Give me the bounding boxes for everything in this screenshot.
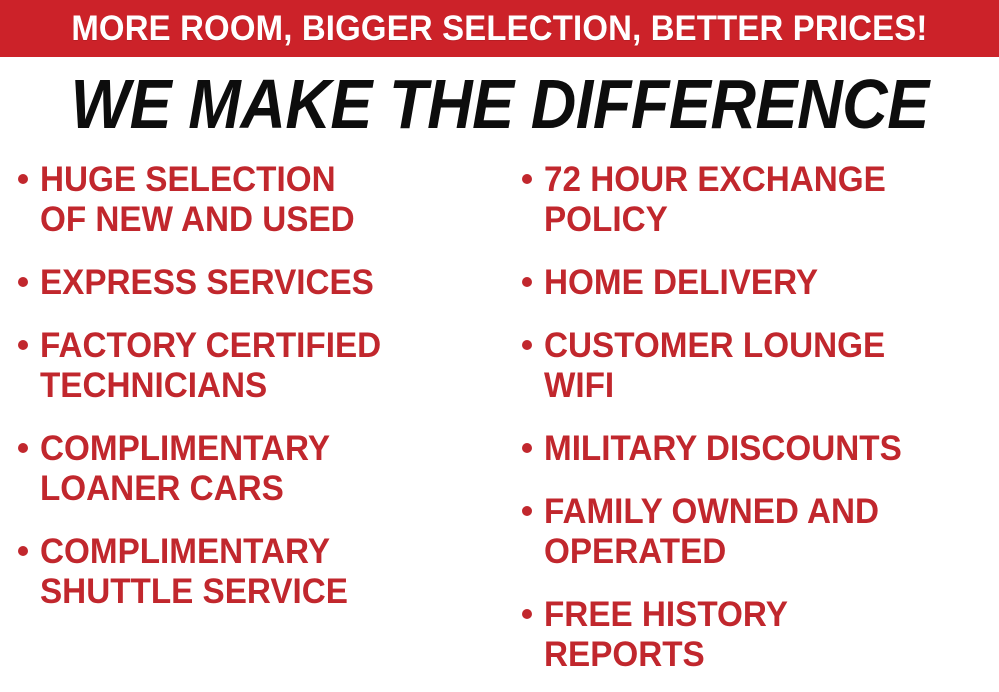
bullet-dot-icon xyxy=(18,340,28,350)
bullet-text: EXPRESS SERVICES xyxy=(40,263,482,303)
bullet-line: OPERATED xyxy=(544,532,976,572)
benefits-columns: HUGE SELECTION OF NEW AND USED EXPRESS S… xyxy=(0,160,999,680)
bullet-dot-icon xyxy=(522,609,532,619)
bullet-text: CUSTOMER LOUNGE WIFI xyxy=(544,326,976,406)
bullet-line: 72 HOUR EXCHANGE xyxy=(544,160,976,200)
bullet-text: HUGE SELECTION OF NEW AND USED xyxy=(40,160,482,240)
bullet-line: HUGE SELECTION xyxy=(40,160,482,200)
bullet-line: COMPLIMENTARY xyxy=(40,532,482,572)
list-item: HUGE SELECTION OF NEW AND USED xyxy=(18,160,505,240)
bullet-dot-icon xyxy=(18,174,28,184)
benefits-column-left: HUGE SELECTION OF NEW AND USED EXPRESS S… xyxy=(0,160,505,635)
list-item: FAMILY OWNED AND OPERATED xyxy=(522,492,999,572)
bullet-dot-icon xyxy=(522,340,532,350)
list-item: 72 HOUR EXCHANGE POLICY xyxy=(522,160,999,240)
bullet-dot-icon xyxy=(522,277,532,287)
bullet-text: FAMILY OWNED AND OPERATED xyxy=(544,492,976,572)
bullet-line: LOANER CARS xyxy=(40,469,482,509)
bullet-line: EXPRESS SERVICES xyxy=(40,263,482,303)
list-item: EXPRESS SERVICES xyxy=(18,263,505,303)
headline-container: WE MAKE THE DIFFERENCE xyxy=(0,68,999,140)
bullet-dot-icon xyxy=(18,277,28,287)
top-banner: MORE ROOM, BIGGER SELECTION, BETTER PRIC… xyxy=(0,0,999,57)
bullet-line: HOME DELIVERY xyxy=(544,263,976,303)
bullet-text: FACTORY CERTIFIED TECHNICIANS xyxy=(40,326,482,406)
benefits-column-right: 72 HOUR EXCHANGE POLICY HOME DELIVERY CU… xyxy=(505,160,999,692)
bullet-text: COMPLIMENTARY SHUTTLE SERVICE xyxy=(40,532,482,612)
list-item: CUSTOMER LOUNGE WIFI xyxy=(522,326,999,406)
bullet-dot-icon xyxy=(522,506,532,516)
list-item: COMPLIMENTARY LOANER CARS xyxy=(18,429,505,509)
page-title: WE MAKE THE DIFFERENCE xyxy=(70,69,928,139)
bullet-dot-icon xyxy=(522,443,532,453)
bullet-line: POLICY xyxy=(544,200,976,240)
banner-headline-text: MORE ROOM, BIGGER SELECTION, BETTER PRIC… xyxy=(71,11,927,46)
promo-poster: MORE ROOM, BIGGER SELECTION, BETTER PRIC… xyxy=(0,0,999,692)
list-item: MILITARY DISCOUNTS xyxy=(522,429,999,469)
bullet-line: MILITARY DISCOUNTS xyxy=(544,429,976,469)
list-item: HOME DELIVERY xyxy=(522,263,999,303)
bullet-text: HOME DELIVERY xyxy=(544,263,976,303)
list-item: COMPLIMENTARY SHUTTLE SERVICE xyxy=(18,532,505,612)
bullet-line: TECHNICIANS xyxy=(40,366,482,406)
bullet-dot-icon xyxy=(522,174,532,184)
bullet-line: COMPLIMENTARY xyxy=(40,429,482,469)
bullet-line: FREE HISTORY xyxy=(544,595,976,635)
bullet-line: OF NEW AND USED xyxy=(40,200,482,240)
list-item: FREE HISTORY REPORTS xyxy=(522,595,999,675)
list-item: FACTORY CERTIFIED TECHNICIANS xyxy=(18,326,505,406)
bullet-line: CUSTOMER LOUNGE xyxy=(544,326,976,366)
bullet-text: 72 HOUR EXCHANGE POLICY xyxy=(544,160,976,240)
bullet-dot-icon xyxy=(18,443,28,453)
bullet-text: COMPLIMENTARY LOANER CARS xyxy=(40,429,482,509)
bullet-dot-icon xyxy=(18,546,28,556)
bullet-line: FAMILY OWNED AND xyxy=(544,492,976,532)
bullet-line: WIFI xyxy=(544,366,976,406)
bullet-line: SHUTTLE SERVICE xyxy=(40,572,482,612)
bullet-text: FREE HISTORY REPORTS xyxy=(544,595,976,675)
bullet-line: REPORTS xyxy=(544,635,976,675)
bullet-line: FACTORY CERTIFIED xyxy=(40,326,482,366)
bullet-text: MILITARY DISCOUNTS xyxy=(544,429,976,469)
